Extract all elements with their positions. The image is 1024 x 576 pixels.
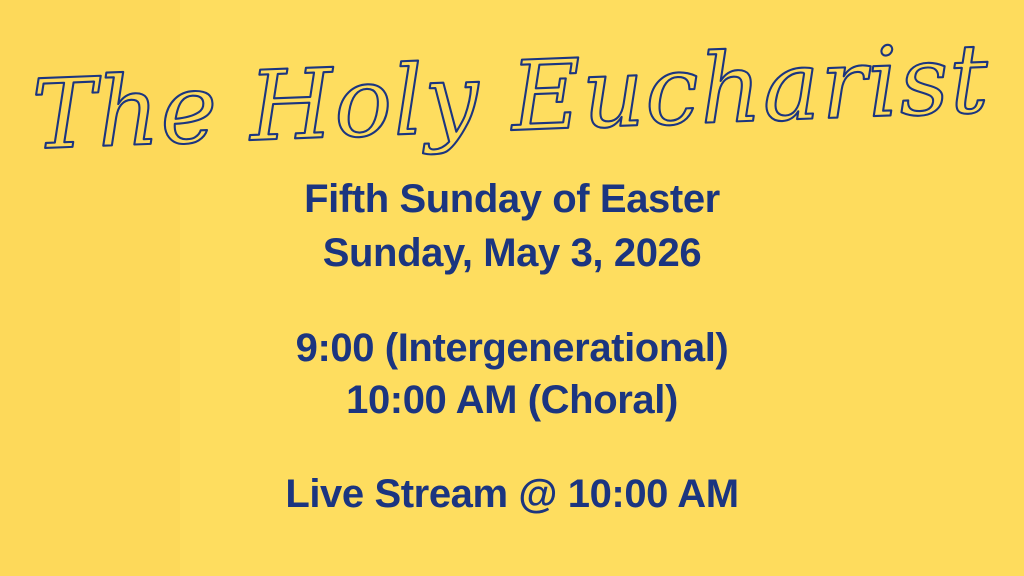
service-time-second: 10:00 AM (Choral) bbox=[296, 377, 729, 423]
date-line: Sunday, May 3, 2026 bbox=[304, 230, 720, 276]
service-time-first: 9:00 (Intergenerational) bbox=[296, 325, 729, 371]
live-stream-block: Live Stream @ 10:00 AM bbox=[285, 472, 738, 517]
occasion-line: Fifth Sunday of Easter bbox=[304, 176, 720, 222]
script-title-text: The Holy Eucharist bbox=[30, 42, 991, 162]
occasion-date-block: Fifth Sunday of Easter Sunday, May 3, 20… bbox=[304, 176, 720, 277]
slide-content: The Holy Eucharist Fifth Sunday of Easte… bbox=[0, 0, 1024, 576]
live-stream-line: Live Stream @ 10:00 AM bbox=[285, 472, 738, 517]
service-announcement-slide: The Holy Eucharist Fifth Sunday of Easte… bbox=[0, 0, 1024, 576]
script-title-artwork: The Holy Eucharist bbox=[0, 42, 1024, 162]
service-times-block: 9:00 (Intergenerational) 10:00 AM (Chora… bbox=[296, 325, 729, 424]
page-title: The Holy Eucharist bbox=[0, 42, 1024, 162]
